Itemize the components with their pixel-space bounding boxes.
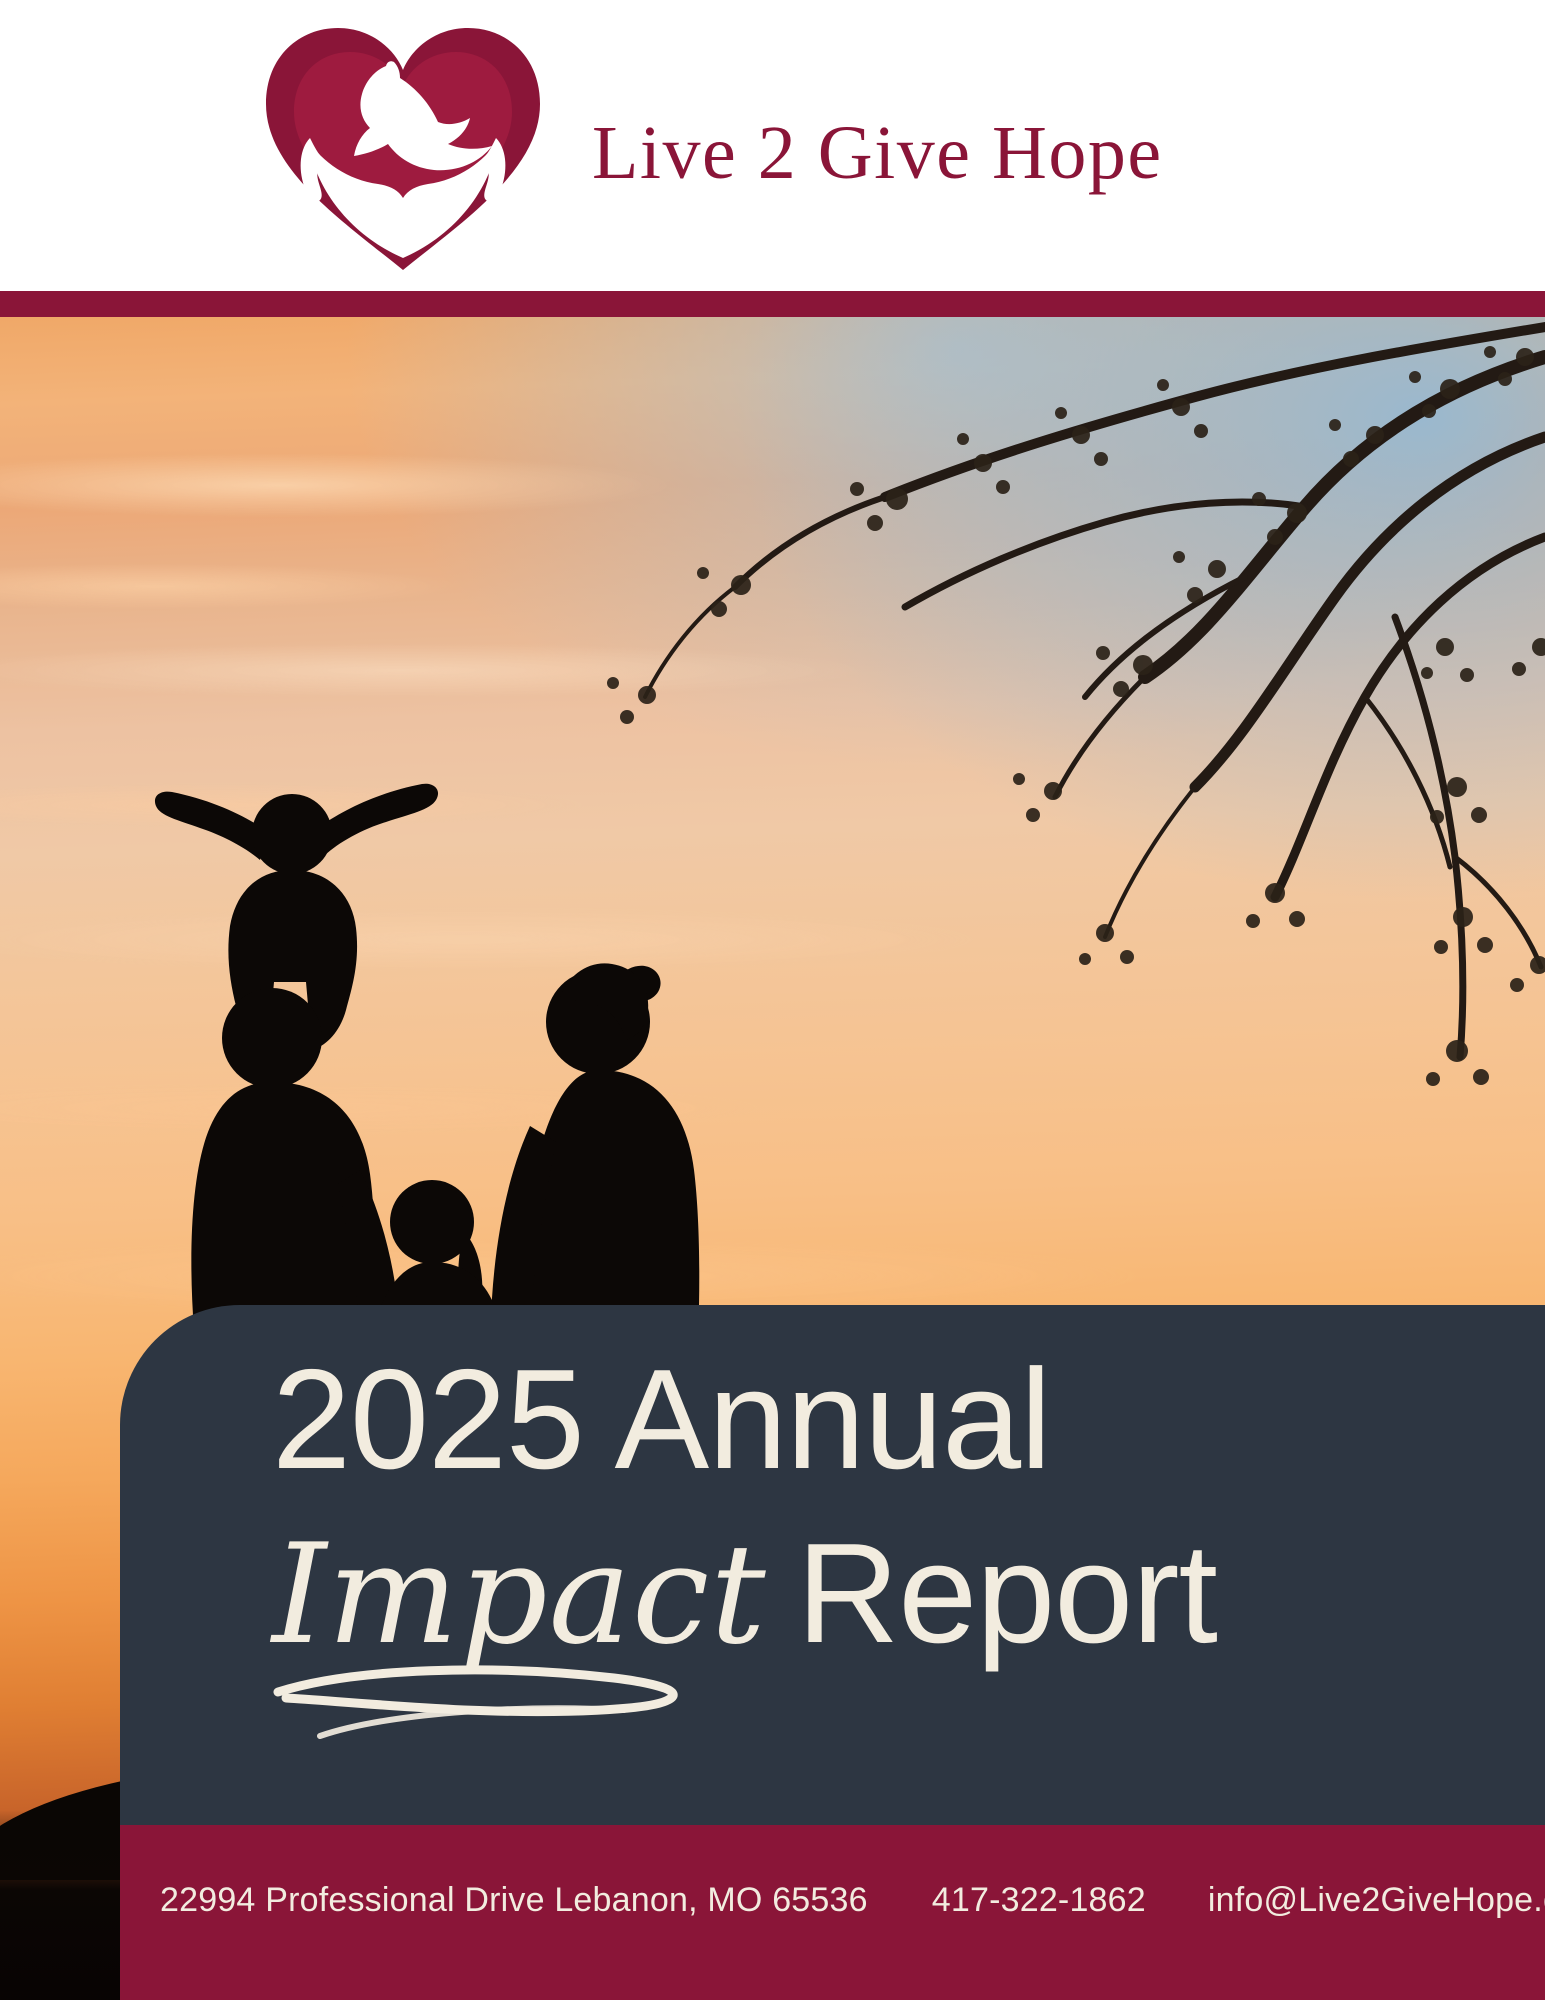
brand-wordmark: Live 2 Give Hope: [592, 97, 1163, 191]
title-script-text: Impact: [272, 1514, 767, 1675]
footer-contact-bar: 22994 Professional Drive Lebanon, MO 655…: [120, 1825, 1545, 2000]
logo-lockup: Live 2 Give Hope: [248, 8, 1163, 280]
title-plain-word: Report: [797, 1523, 1217, 1665]
header-band: Live 2 Give Hope: [0, 0, 1545, 290]
report-year-title: 2025 Annual: [272, 1349, 1051, 1491]
footer-email[interactable]: info@Live2GiveHope.org: [1208, 1883, 1545, 1917]
title-panel: 2025 Annual Impact Report: [120, 1305, 1545, 1825]
title-script-word: Impact: [272, 1526, 797, 1664]
report-subtitle-line: Impact Report: [272, 1523, 1217, 1665]
report-cover-page: Live 2 Give Hope: [0, 0, 1545, 2000]
footer-contact-row: 22994 Professional Drive Lebanon, MO 655…: [160, 1883, 1545, 1917]
footer-address: 22994 Professional Drive Lebanon, MO 655…: [160, 1883, 868, 1917]
header-divider-rule: [0, 291, 1545, 317]
footer-phone[interactable]: 417-322-1862: [932, 1883, 1146, 1917]
heart-hands-dove-icon: [248, 8, 558, 280]
